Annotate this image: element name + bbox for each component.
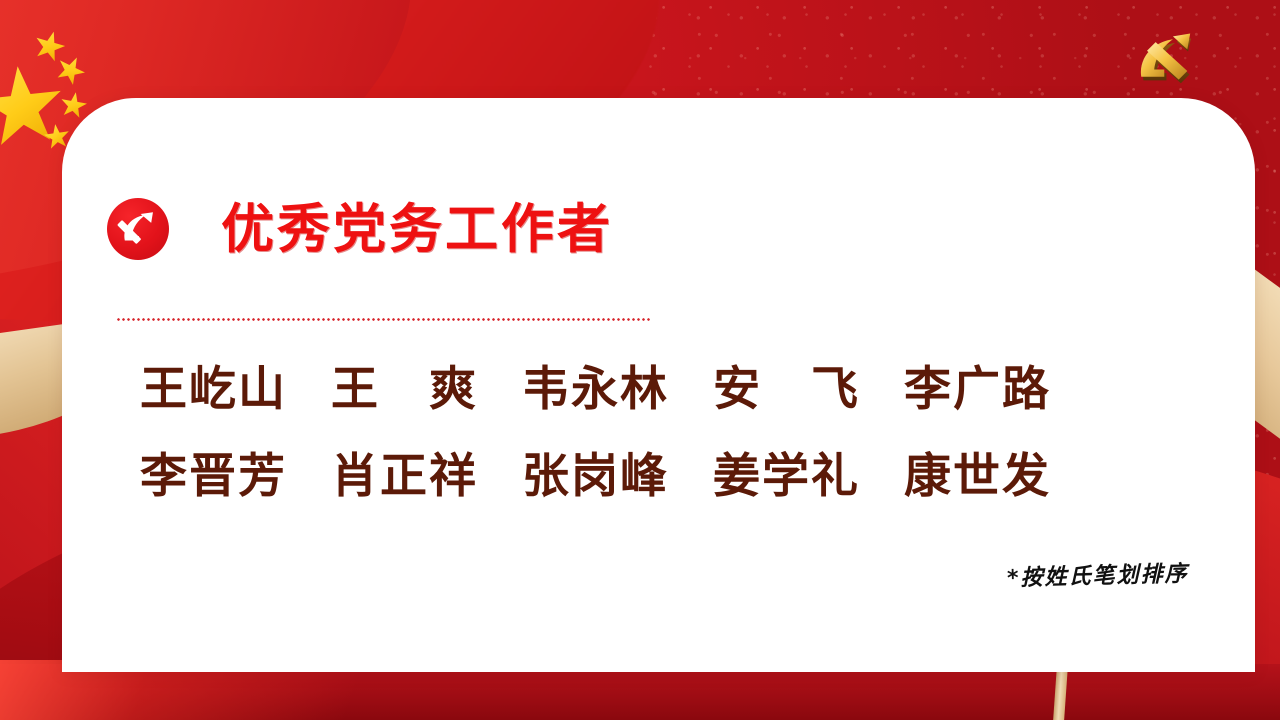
bottom-red-band (0, 664, 1280, 720)
honoree-name: 王 爽 (331, 350, 478, 419)
name-row: 王屹山 王 爽 韦永林 安 飞 李广路 (140, 350, 1160, 419)
content-card: 优秀党务工作者 王屹山 王 爽 韦永林 安 飞 李广路 李晋芳 肖正祥 张岗峰 … (62, 98, 1255, 672)
flag-star-small-2 (51, 51, 90, 90)
honoree-name: 李晋芳 (140, 437, 287, 506)
honoree-name: 康世发 (904, 437, 1051, 506)
honoree-name: 韦永林 (522, 350, 669, 419)
honoree-name: 姜学礼 (713, 437, 860, 506)
party-emblem-icon (107, 198, 169, 260)
sort-order-footnote: *按姓氏笔划排序 (1007, 556, 1189, 593)
name-row: 李晋芳 肖正祥 张岗峰 姜学礼 康世发 (140, 437, 1160, 506)
honoree-name: 李广路 (904, 350, 1051, 419)
honoree-name-list: 王屹山 王 爽 韦永林 安 飞 李广路 李晋芳 肖正祥 张岗峰 姜学礼 康世发 (140, 350, 1160, 524)
honoree-name: 王屹山 (140, 350, 287, 419)
card-header: 优秀党务工作者 (107, 198, 613, 260)
dotted-divider (116, 318, 651, 321)
honoree-name: 肖正祥 (331, 437, 478, 506)
flag-star-small-1 (30, 27, 68, 65)
gold-hammer-sickle-icon (1124, 22, 1206, 94)
flag-star-small-3 (58, 90, 89, 121)
honoree-name: 张岗峰 (522, 437, 669, 506)
page-title: 优秀党务工作者 (221, 203, 613, 256)
slide-root: 优秀党务工作者 王屹山 王 爽 韦永林 安 飞 李广路 李晋芳 肖正祥 张岗峰 … (0, 0, 1280, 720)
honoree-name: 安 飞 (713, 350, 860, 419)
